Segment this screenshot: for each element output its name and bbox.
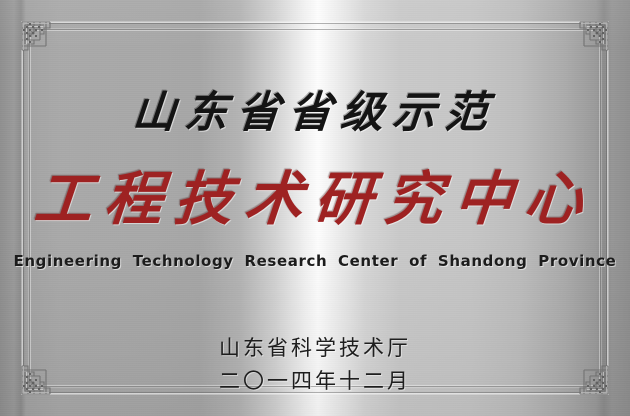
plaque-title-chinese-top: 山东省省级示范: [130, 78, 499, 140]
plaque-text-content: 山东省省级示范 工程技术研究中心 Engineering Technology …: [0, 0, 630, 416]
plaque-issuer-block: 山东省科学技术厅 二〇一四年十二月: [219, 332, 411, 397]
award-plaque: 山东省省级示范 工程技术研究中心 Engineering Technology …: [0, 0, 630, 416]
plaque-title-english: Engineering Technology Research Center o…: [14, 252, 617, 270]
plaque-title-chinese-main: 工程技术研究中心: [31, 152, 598, 236]
plaque-issue-date: 二〇一四年十二月: [219, 365, 411, 398]
plaque-issuing-authority: 山东省科学技术厅: [219, 332, 411, 365]
